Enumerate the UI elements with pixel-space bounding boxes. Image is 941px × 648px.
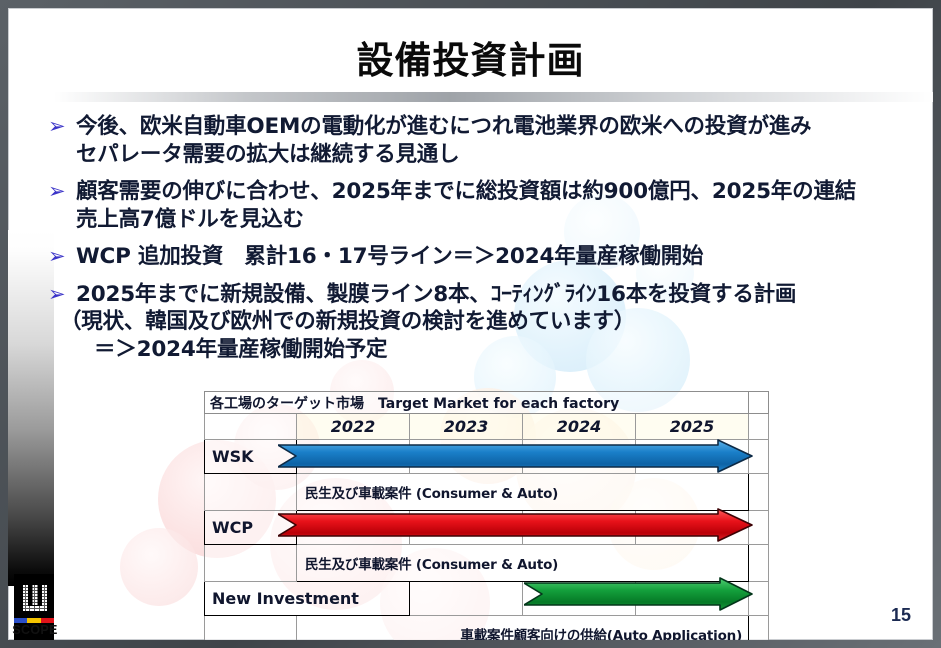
table-year-row: 2022 2023 2024 2025: [205, 414, 769, 440]
newinv-2023-cell: [410, 582, 523, 616]
slide-canvas: SCOPE 設備投資計画 ➢ 今後、欧米自動車OEMの電動化が進むにつれ電池業界…: [8, 8, 933, 640]
bullet-text: 今後、欧米自動車OEMの電動化が進むにつれ電池業界の欧米への投資が進み: [76, 113, 918, 141]
bullet-arrow-icon: ➢: [48, 178, 76, 204]
newinv-note-label-cell: [205, 616, 297, 641]
page-title: 設備投資計画: [8, 30, 933, 84]
wsk-note-label-cell: [205, 474, 297, 511]
newinv-2024-cell: [523, 582, 636, 616]
bullet-arrow-icon: ➢: [48, 281, 76, 307]
bullet-arrow-icon: ➢: [48, 243, 76, 269]
list-item: ➢ 今後、欧米自動車OEMの電動化が進むにつれ電池業界の欧米への投資が進み: [48, 113, 918, 141]
table-spacer-cell: [749, 440, 769, 474]
table-row: WCP: [205, 511, 769, 545]
table-title-cell: 各工場のターゲット市場 Target Market for each facto…: [205, 392, 749, 414]
table-row: New Investment: [205, 582, 769, 616]
wcp-note: 民生及び車載案件 (Consumer & Auto): [297, 545, 749, 582]
table-spacer-cell: [749, 545, 769, 582]
logo-wordmark: SCOPE: [12, 623, 58, 637]
table-spacer-cell: [749, 616, 769, 641]
row-label-wsk: WSK: [205, 440, 297, 474]
bullet-text-continued: 売上高7億ドルを見込む: [48, 206, 918, 234]
newinv-2025-cell: [636, 582, 749, 616]
table-spacer-cell: [749, 474, 769, 511]
wsk-2023-cell: [410, 440, 523, 474]
table-spacer-cell: [749, 511, 769, 545]
table-row: 民生及び車載案件 (Consumer & Auto): [205, 545, 769, 582]
sub-note-schedule: ＝＞2024年量産稼働開始予定: [48, 336, 918, 364]
table-row: 民生及び車載案件 (Consumer & Auto): [205, 474, 769, 511]
table-spacer-cell: [749, 414, 769, 440]
page-number: 15: [891, 605, 911, 626]
wcp-note-label-cell: [205, 545, 297, 582]
slide-frame: SCOPE 設備投資計画 ➢ 今後、欧米自動車OEMの電動化が進むにつれ電池業界…: [0, 0, 941, 648]
title-divider: [54, 92, 933, 102]
bullet-text: 2025年までに新規設備、製膜ライン8本、ｺｰﾃｨﾝｸﾞﾗｲﾝ16本を投資する計…: [76, 281, 918, 309]
bullet-text-continued: セパレータ需要の拡大は継続する見通し: [48, 141, 918, 169]
wcp-2022-cell: [297, 511, 410, 545]
wcp-2025-cell: [636, 511, 749, 545]
bullet-arrow-icon: ➢: [48, 113, 76, 139]
corner-cell: [205, 414, 297, 440]
wsk-note: 民生及び車載案件 (Consumer & Auto): [297, 474, 749, 511]
wsk-2022-cell: [297, 440, 410, 474]
sub-note-parenthetical: （現状、韓国及び欧州での新規投資の検討を進めています）: [48, 308, 918, 336]
row-label-wcp: WCP: [205, 511, 297, 545]
table-row: WSK: [205, 440, 769, 474]
list-item: ➢ 2025年までに新規設備、製膜ライン8本、ｺｰﾃｨﾝｸﾞﾗｲﾝ16本を投資す…: [48, 281, 918, 309]
table-header-row: 各工場のターゲット市場 Target Market for each facto…: [205, 392, 769, 414]
list-item: ➢ WCP 追加投資 累計16・17号ライン＝＞2024年量産稼働開始: [48, 243, 918, 271]
new-investment-note: 車載案件顧客向けの供給(Auto Application): [297, 616, 749, 641]
year-header-2023: 2023: [410, 414, 523, 440]
bullet-text: WCP 追加投資 累計16・17号ライン＝＞2024年量産稼働開始: [76, 243, 918, 271]
year-header-2022: 2022: [297, 414, 410, 440]
year-header-2025: 2025: [636, 414, 749, 440]
bullet-text: 顧客需要の伸びに合わせ、2025年までに総投資額は約900億円、2025年の連結: [76, 178, 918, 206]
list-item: ➢ 顧客需要の伸びに合わせ、2025年までに総投資額は約900億円、2025年の…: [48, 178, 918, 206]
wsk-2024-cell: [523, 440, 636, 474]
wcp-2023-cell: [410, 511, 523, 545]
wsk-2025-cell: [636, 440, 749, 474]
table-spacer-cell: [749, 392, 769, 414]
row-label-new-investment: New Investment: [205, 582, 410, 616]
bullet-list: ➢ 今後、欧米自動車OEMの電動化が進むにつれ電池業界の欧米への投資が進み セパ…: [48, 113, 918, 363]
table: 各工場のターゲット市場 Target Market for each facto…: [204, 391, 769, 640]
table-spacer-cell: [749, 582, 769, 616]
w-mark-icon: [23, 585, 47, 611]
wcp-2024-cell: [523, 511, 636, 545]
target-market-table: 各工場のターゲット市場 Target Market for each facto…: [204, 391, 768, 639]
year-header-2024: 2024: [523, 414, 636, 440]
table-row: 車載案件顧客向けの供給(Auto Application): [205, 616, 769, 641]
